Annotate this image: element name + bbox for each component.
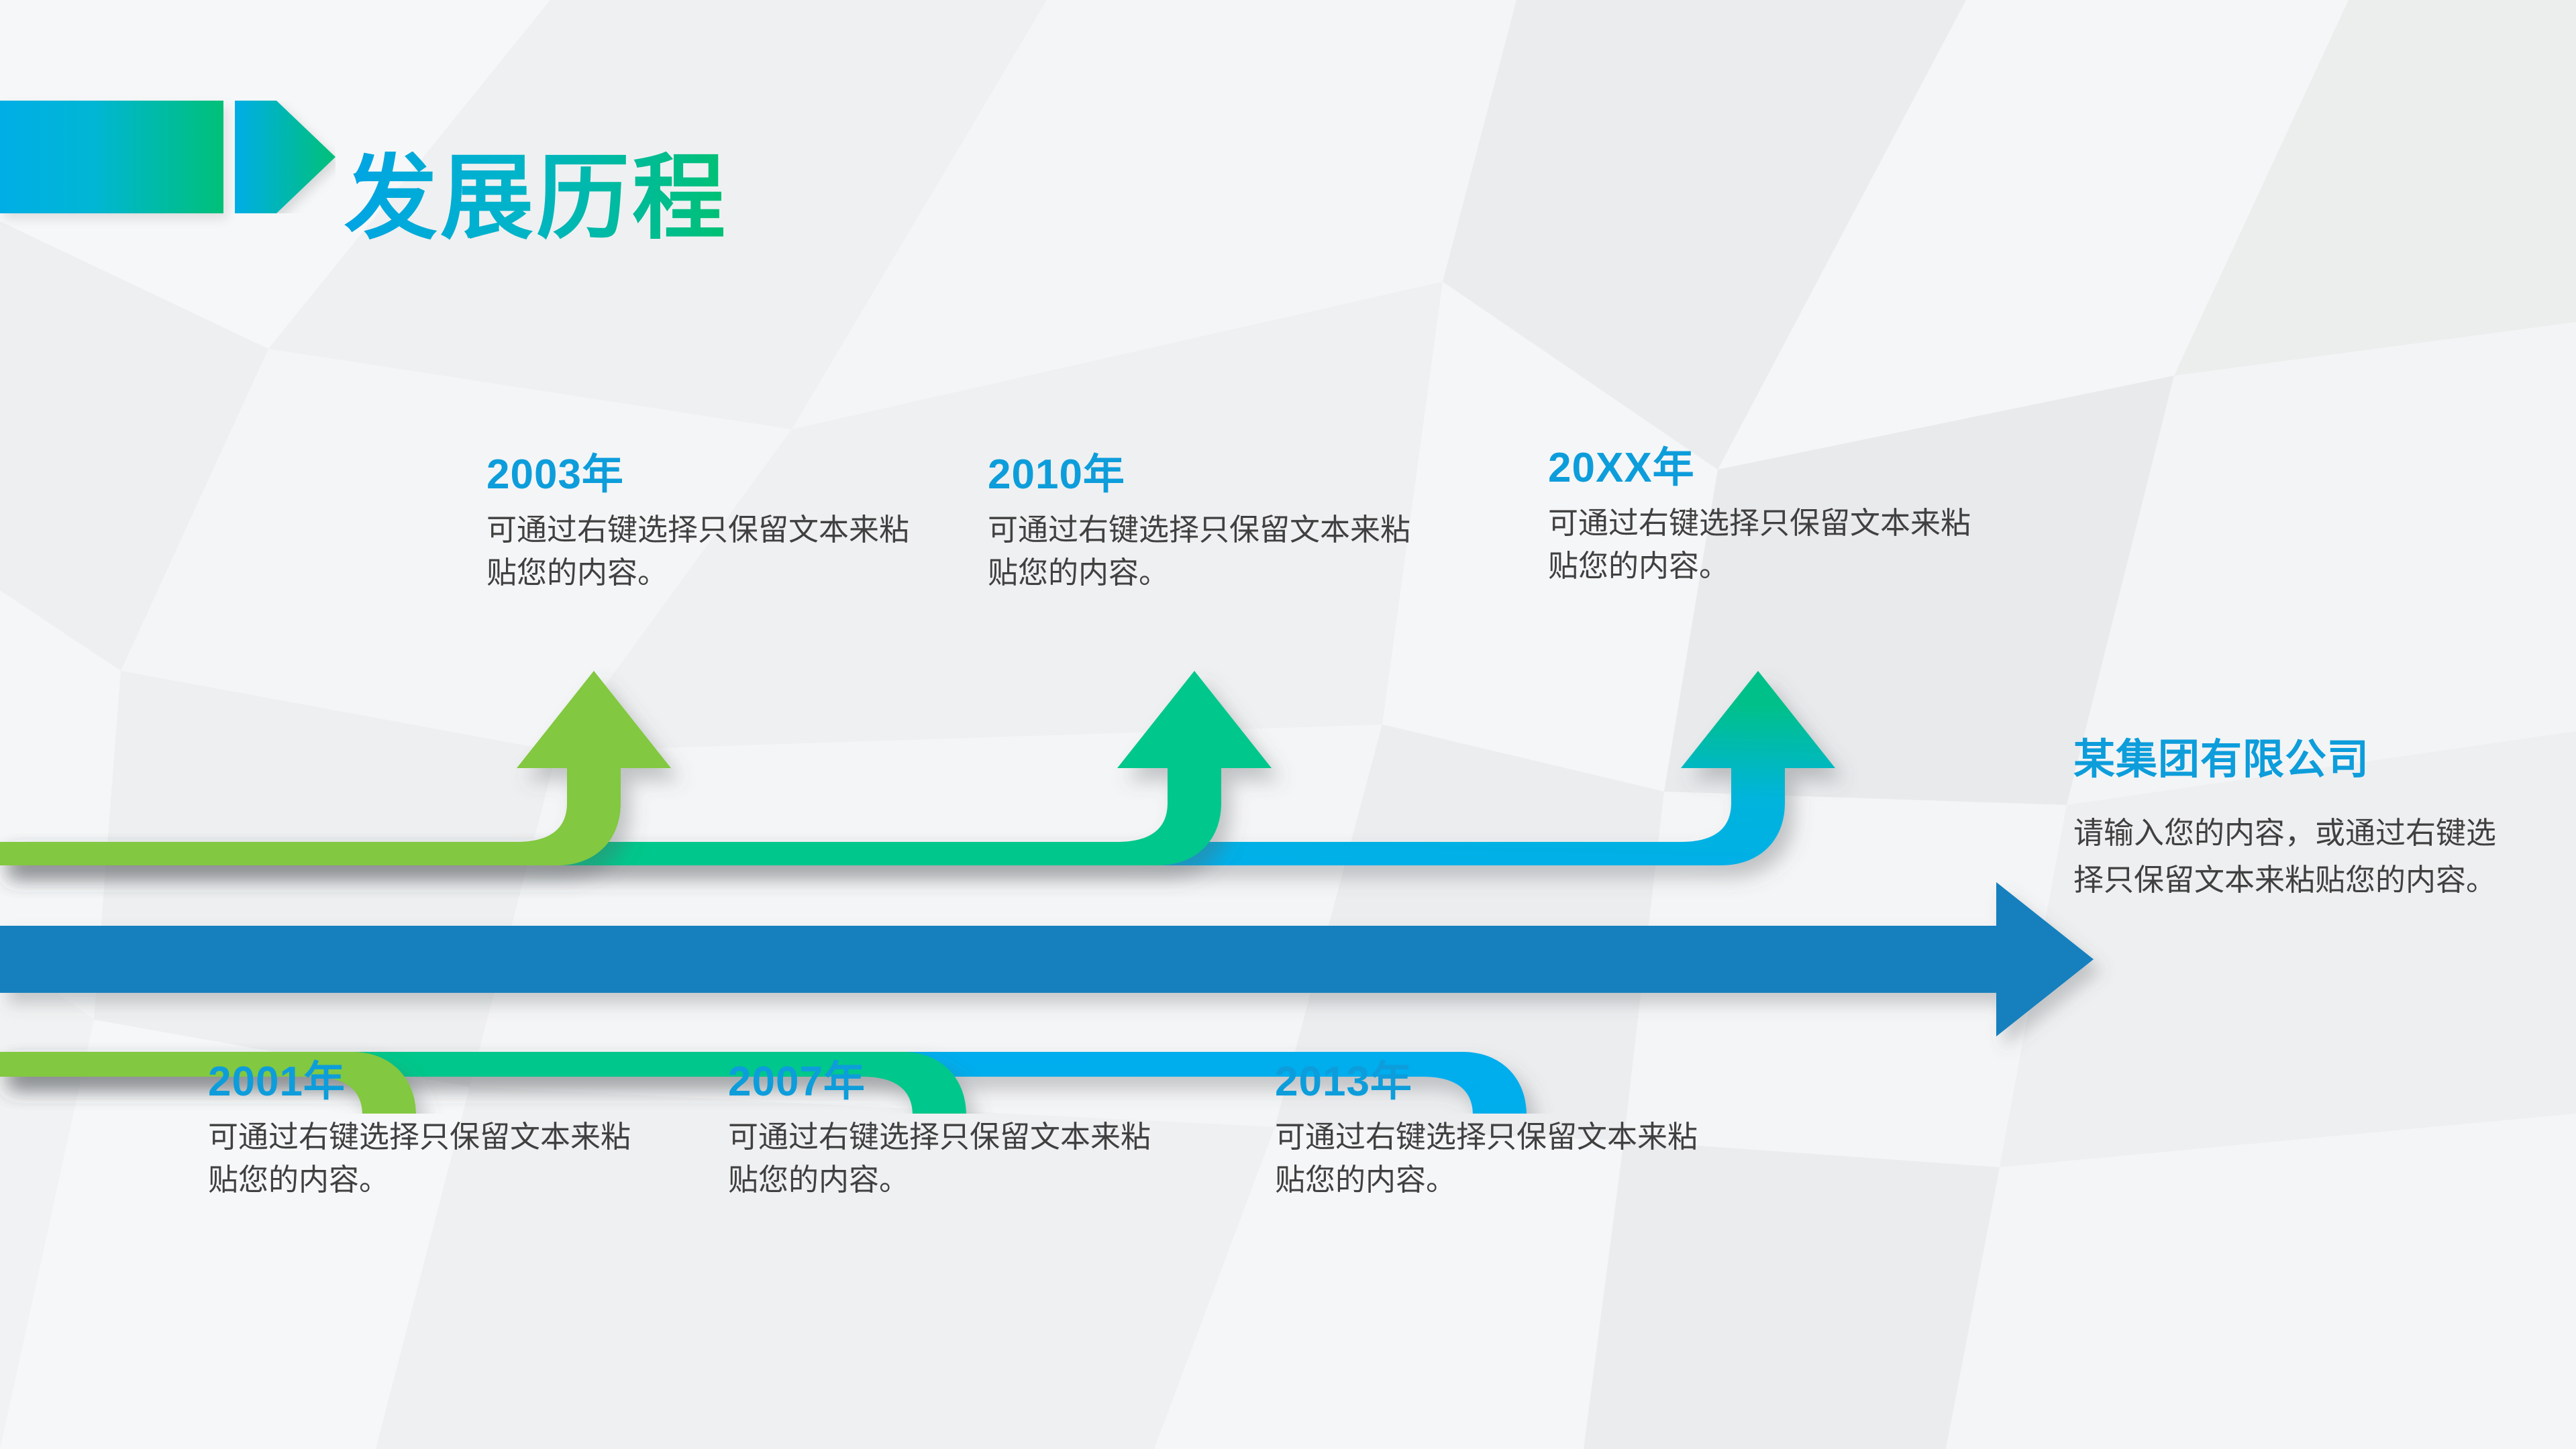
milestone-2013[interactable]: 2013年 可通过右键选择只保留文本来粘贴您的内容。 (1275, 1060, 1704, 1201)
milestone-year-label: 20XX年 (1548, 446, 1977, 490)
milestone-body-text: 可通过右键选择只保留文本来粘贴您的内容。 (1548, 502, 1977, 588)
milestone-year-label: 2007年 (728, 1060, 1157, 1104)
timeline-arrow-graphics (0, 644, 2147, 1114)
milestone-year-label: 2013年 (1275, 1060, 1704, 1104)
company-description-text: 请输入您的内容，或通过右键选择只保留文本来粘贴您的内容。 (2073, 810, 2508, 904)
upper-arrow-lightblue (0, 671, 1835, 865)
main-timeline-arrow (0, 882, 2094, 1036)
milestone-body-text: 可通过右键选择只保留文本来粘贴您的内容。 (1275, 1116, 1704, 1201)
milestone-year-label: 2003年 (486, 453, 916, 496)
company-info-block[interactable]: 某集团有限公司 请输入您的内容，或通过右键选择只保留文本来粘贴您的内容。 (2073, 738, 2516, 904)
milestone-year-label: 2010年 (988, 453, 1417, 496)
milestone-body-text: 可通过右键选择只保留文本来粘贴您的内容。 (486, 508, 916, 594)
milestone-2001[interactable]: 2001年 可通过右键选择只保留文本来粘贴您的内容。 (208, 1060, 637, 1201)
slide-canvas: 发展历程 (0, 0, 2576, 1449)
milestone-2003[interactable]: 2003年 可通过右键选择只保留文本来粘贴您的内容。 (486, 453, 916, 594)
upper-arrow-green (0, 671, 671, 865)
milestone-20xx[interactable]: 20XX年 可通过右键选择只保留文本来粘贴您的内容。 (1548, 446, 1977, 588)
milestone-body-text: 可通过右键选择只保留文本来粘贴您的内容。 (728, 1116, 1157, 1201)
milestone-2010[interactable]: 2010年 可通过右键选择只保留文本来粘贴您的内容。 (988, 453, 1417, 594)
milestone-2007[interactable]: 2007年 可通过右键选择只保留文本来粘贴您的内容。 (728, 1060, 1157, 1201)
company-name-label: 某集团有限公司 (2073, 738, 2516, 782)
page-title: 发展历程 (344, 152, 728, 245)
header-accent-bar (0, 101, 223, 213)
milestone-body-text: 可通过右键选择只保留文本来粘贴您的内容。 (208, 1116, 637, 1201)
milestone-body-text: 可通过右键选择只保留文本来粘贴您的内容。 (988, 508, 1417, 594)
header-chevron-icon (235, 101, 336, 213)
milestone-year-label: 2001年 (208, 1060, 637, 1104)
